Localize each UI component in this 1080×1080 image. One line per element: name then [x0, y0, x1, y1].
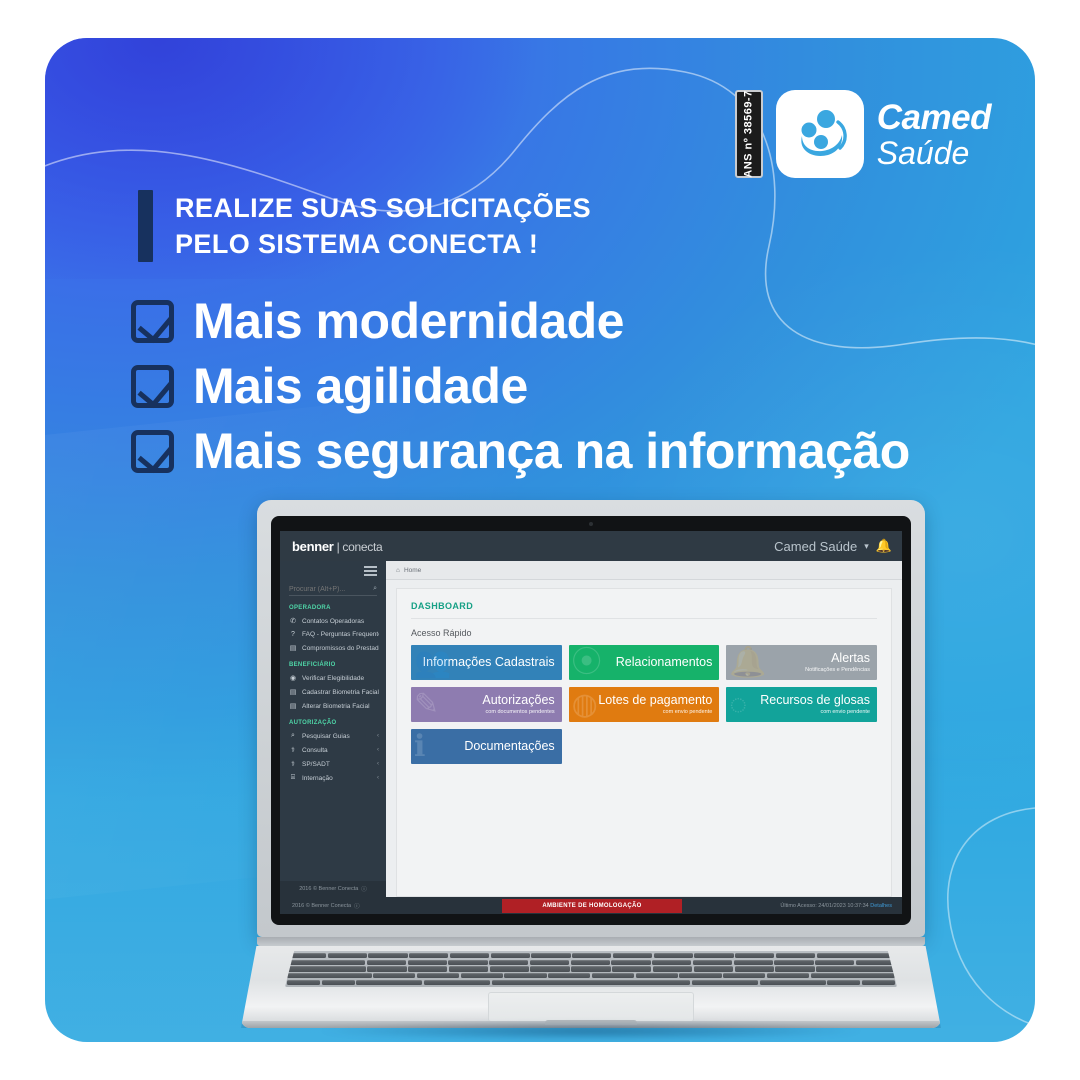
tile-relacionamentos[interactable]: ⦿ Relacionamentos: [569, 645, 720, 680]
headline-line-1: REALIZE SUAS SOLICITAÇÕES: [175, 190, 591, 226]
network-icon: ⦿: [572, 648, 602, 678]
list-item: Mais modernidade: [131, 296, 910, 346]
sidebar-item-label: Pesquisar Guias: [302, 733, 372, 740]
quick-access-label: Acesso Rápido: [411, 628, 877, 638]
keyboard-row: [287, 973, 895, 978]
laptop-hinge: [257, 937, 925, 946]
sidebar-item-faq[interactable]: ? FAQ - Perguntas Frequentes: [280, 628, 386, 641]
environment-badge: AMBIENTE DE HOMOLOGAÇÃO: [502, 899, 682, 913]
search-field-wrapper: ⌕: [289, 585, 377, 596]
page-title: DASHBOARD: [411, 601, 877, 611]
card-icon: ▤: [289, 644, 297, 652]
laptop-lid: benner | conecta Camed Saúde ▾ 🔔: [257, 500, 925, 937]
sidebar-group-beneficiario: BENEFICIÁRIO: [280, 655, 386, 671]
search-icon[interactable]: ⌕: [373, 585, 377, 593]
list-item-label: Mais agilidade: [193, 361, 528, 411]
sidebar-search: ⌕: [280, 581, 386, 598]
sidebar-item-sp-sadt[interactable]: ⚕ SP/SADT ‹: [280, 757, 386, 771]
breadcrumb: ⌂ Home: [386, 561, 902, 580]
details-link[interactable]: Detalhes: [870, 903, 892, 909]
brand-name: Camed: [877, 100, 991, 135]
sidebar: ⌕ OPERADORA ✆ Contatos Operadoras ?: [280, 561, 386, 897]
chevron-left-icon: ‹: [377, 775, 379, 781]
hamburger-icon[interactable]: [364, 566, 377, 576]
tile-title: Alertas: [831, 652, 870, 665]
tile-placeholder: [569, 729, 720, 764]
users-icon: 👥: [414, 648, 451, 678]
brand-row: ANS nº 38569-7 Camed Saúde: [735, 90, 991, 178]
breadcrumb-label[interactable]: Home: [404, 567, 421, 574]
sidebar-item-label: Consulta: [302, 747, 372, 754]
laptop-mockup: benner | conecta Camed Saúde ▾ 🔔: [241, 500, 941, 1028]
info-icon: ℹ: [414, 732, 425, 762]
tile-alertas[interactable]: 🔔 Alertas Notificações e Pendências: [726, 645, 877, 680]
headline-accent-bar: [138, 190, 153, 262]
keyboard-row: [287, 980, 895, 985]
checkbox-checked-icon: [131, 365, 174, 408]
status-bar-right: Último Acesso: 24/01/2023 10:37:34 Detal…: [682, 903, 902, 909]
chevron-left-icon: ‹: [377, 733, 379, 739]
bell-notification-icon[interactable]: 🔔: [876, 538, 892, 554]
sidebar-item-contatos-operadoras[interactable]: ✆ Contatos Operadoras: [280, 614, 386, 628]
keyboard: [285, 951, 897, 987]
sidebar-item-compromissos-prestador[interactable]: ▤ Compromissos do Prestador: [280, 641, 386, 655]
tile-placeholder: [726, 729, 877, 764]
list-item-label: Mais modernidade: [193, 296, 624, 346]
card-icon: ▤: [289, 702, 297, 710]
circle-icon: ◌: [729, 690, 747, 720]
app-header: benner | conecta Camed Saúde ▾ 🔔: [280, 531, 902, 561]
laptop-base: [241, 946, 941, 1028]
keyboard-row: [287, 966, 895, 971]
ans-registration-badge: ANS nº 38569-7: [735, 90, 763, 178]
brand-text: Camed Saúde: [877, 100, 991, 169]
search-icon: ⌕: [289, 732, 297, 740]
tile-title: Recursos de glosas: [760, 694, 870, 707]
list-item: Mais segurança na informação: [131, 426, 910, 476]
camed-logo-tile: [776, 90, 864, 178]
sidebar-item-label: Alterar Biometria Facial: [302, 703, 379, 710]
sidebar-group-operadora: OPERADORA: [280, 598, 386, 614]
app-body: ⌕ OPERADORA ✆ Contatos Operadoras ?: [280, 561, 902, 897]
card-icon: ▤: [289, 688, 297, 696]
chevron-left-icon: ‹: [377, 747, 379, 753]
dashboard-panel: DASHBOARD Acesso Rápido 👥 Informações Ca…: [396, 588, 892, 897]
chevron-left-icon: ‹: [377, 761, 379, 767]
tile-title: Autorizações: [482, 694, 554, 707]
tile-lotes-de-pagamento[interactable]: ◍ Lotes de pagamento com envio pendente: [569, 687, 720, 722]
content-area: ⌂ Home DASHBOARD Acesso Rápido 👥: [386, 561, 902, 897]
sidebar-group-autorizacao: AUTORIZAÇÃO: [280, 713, 386, 729]
search-input[interactable]: [289, 586, 355, 593]
sidebar-item-label: Compromissos do Prestador: [302, 645, 379, 652]
tile-title: Documentações: [464, 740, 554, 753]
tile-subtitle: com documentos pendentes: [486, 709, 555, 715]
checkbox-checked-icon: [131, 300, 174, 343]
tile-documentacoes[interactable]: ℹ Documentações: [411, 729, 562, 764]
info-circle-icon: ⓘ: [354, 902, 360, 910]
sidebar-item-label: FAQ - Perguntas Frequentes: [302, 631, 379, 638]
pencil-icon: ✎: [414, 690, 439, 720]
last-access-label: Último Acesso: 24/01/2023 10:37:34: [780, 903, 870, 909]
camed-people-icon: [788, 102, 852, 166]
sidebar-footer-label: 2016 © Benner Conecta: [299, 886, 358, 892]
sidebar-item-verificar-elegibilidade[interactable]: ◉ Verificar Elegibilidade: [280, 671, 386, 685]
money-icon: ◍: [572, 690, 598, 720]
bed-icon: ⌸: [289, 774, 297, 782]
list-item: Mais agilidade: [131, 361, 910, 411]
app-header-right: Camed Saúde ▾ 🔔: [774, 538, 892, 554]
tile-subtitle: com envio pendente: [820, 709, 870, 715]
dashboard-tiles: 👥 Informações Cadastrais ⦿ Relacionament…: [411, 645, 877, 764]
checkbox-checked-icon: [131, 430, 174, 473]
laptop-base-wrapper: [241, 937, 941, 1028]
sidebar-item-consulta[interactable]: ⚕ Consulta ‹: [280, 743, 386, 757]
benner-logo: benner | conecta: [292, 539, 382, 554]
tile-autorizacoes[interactable]: ✎ Autorizações com documentos pendentes: [411, 687, 562, 722]
headline-text: REALIZE SUAS SOLICITAÇÕES PELO SISTEMA C…: [175, 190, 591, 262]
user-menu-label: Camed Saúde: [774, 539, 857, 554]
sidebar-item-pesquisar-guias[interactable]: ⌕ Pesquisar Guias ‹: [280, 729, 386, 743]
bell-icon: 🔔: [729, 648, 766, 678]
promo-card: ANS nº 38569-7 Camed Saúde REALIZE SUAS …: [45, 38, 1035, 1042]
sidebar-item-label: Contatos Operadoras: [302, 618, 379, 625]
tile-title: Lotes de pagamento: [598, 694, 712, 707]
laptop-shadow: [211, 1018, 971, 1042]
chevron-down-icon[interactable]: ▾: [864, 541, 869, 552]
tile-informacoes-cadastrais[interactable]: 👥 Informações Cadastrais: [411, 645, 562, 680]
application-screen: benner | conecta Camed Saúde ▾ 🔔: [280, 531, 902, 914]
info-circle-icon: ⓘ: [361, 885, 367, 893]
sidebar-item-internacao[interactable]: ⌸ Internação ‹: [280, 771, 386, 785]
sidebar-item-label: Verificar Elegibilidade: [302, 675, 379, 682]
tile-recursos-de-glosas[interactable]: ◌ Recursos de glosas com envio pendente: [726, 687, 877, 722]
phone-icon: ✆: [289, 617, 297, 625]
headline-line-2: PELO SISTEMA CONECTA !: [175, 226, 591, 262]
status-bar-copyright: 2016 © Benner Conecta: [292, 903, 351, 909]
tile-title: Relacionamentos: [616, 656, 713, 669]
divider: [411, 618, 877, 619]
sidebar-item-alterar-biometria-facial[interactable]: ▤ Alterar Biometria Facial: [280, 699, 386, 713]
status-bar-left: 2016 © Benner Conecta ⓘ: [280, 902, 502, 910]
help-circle-icon: ?: [289, 631, 297, 638]
sidebar-item-cadastrar-biometria-facial[interactable]: ▤ Cadastrar Biometria Facial: [280, 685, 386, 699]
benefit-list: Mais modernidade Mais agilidade Mais seg…: [131, 296, 910, 491]
webcam-icon: [589, 522, 593, 526]
sidebar-item-label: Internação: [302, 775, 372, 782]
benner-logo-text: benner: [292, 539, 334, 554]
laptop-bezel: benner | conecta Camed Saúde ▾ 🔔: [271, 516, 911, 925]
benner-logo-suffix: | conecta: [334, 540, 383, 554]
sidebar-footer: 2016 © Benner Conecta ⓘ: [280, 881, 386, 897]
headline: REALIZE SUAS SOLICITAÇÕES PELO SISTEMA C…: [138, 190, 591, 262]
keyboard-row: [287, 960, 895, 965]
brand-subtitle: Saúde: [877, 137, 991, 169]
tile-subtitle: com envio pendente: [663, 709, 713, 715]
medical-icon: ⚕: [289, 760, 297, 768]
keyboard-row: [287, 953, 895, 958]
list-item-label: Mais segurança na informação: [193, 426, 910, 476]
ans-badge-label: ANS nº 38569-7: [743, 90, 755, 177]
sidebar-toggle-row: [280, 561, 386, 581]
sidebar-item-label: SP/SADT: [302, 761, 372, 768]
tile-subtitle: Notificações e Pendências: [805, 667, 870, 673]
stethoscope-icon: ⚕: [289, 746, 297, 754]
check-shield-icon: ◉: [289, 674, 297, 682]
sidebar-item-label: Cadastrar Biometria Facial: [302, 689, 379, 696]
status-bar: 2016 © Benner Conecta ⓘ AMBIENTE DE HOMO…: [280, 897, 902, 914]
home-icon: ⌂: [396, 567, 400, 574]
